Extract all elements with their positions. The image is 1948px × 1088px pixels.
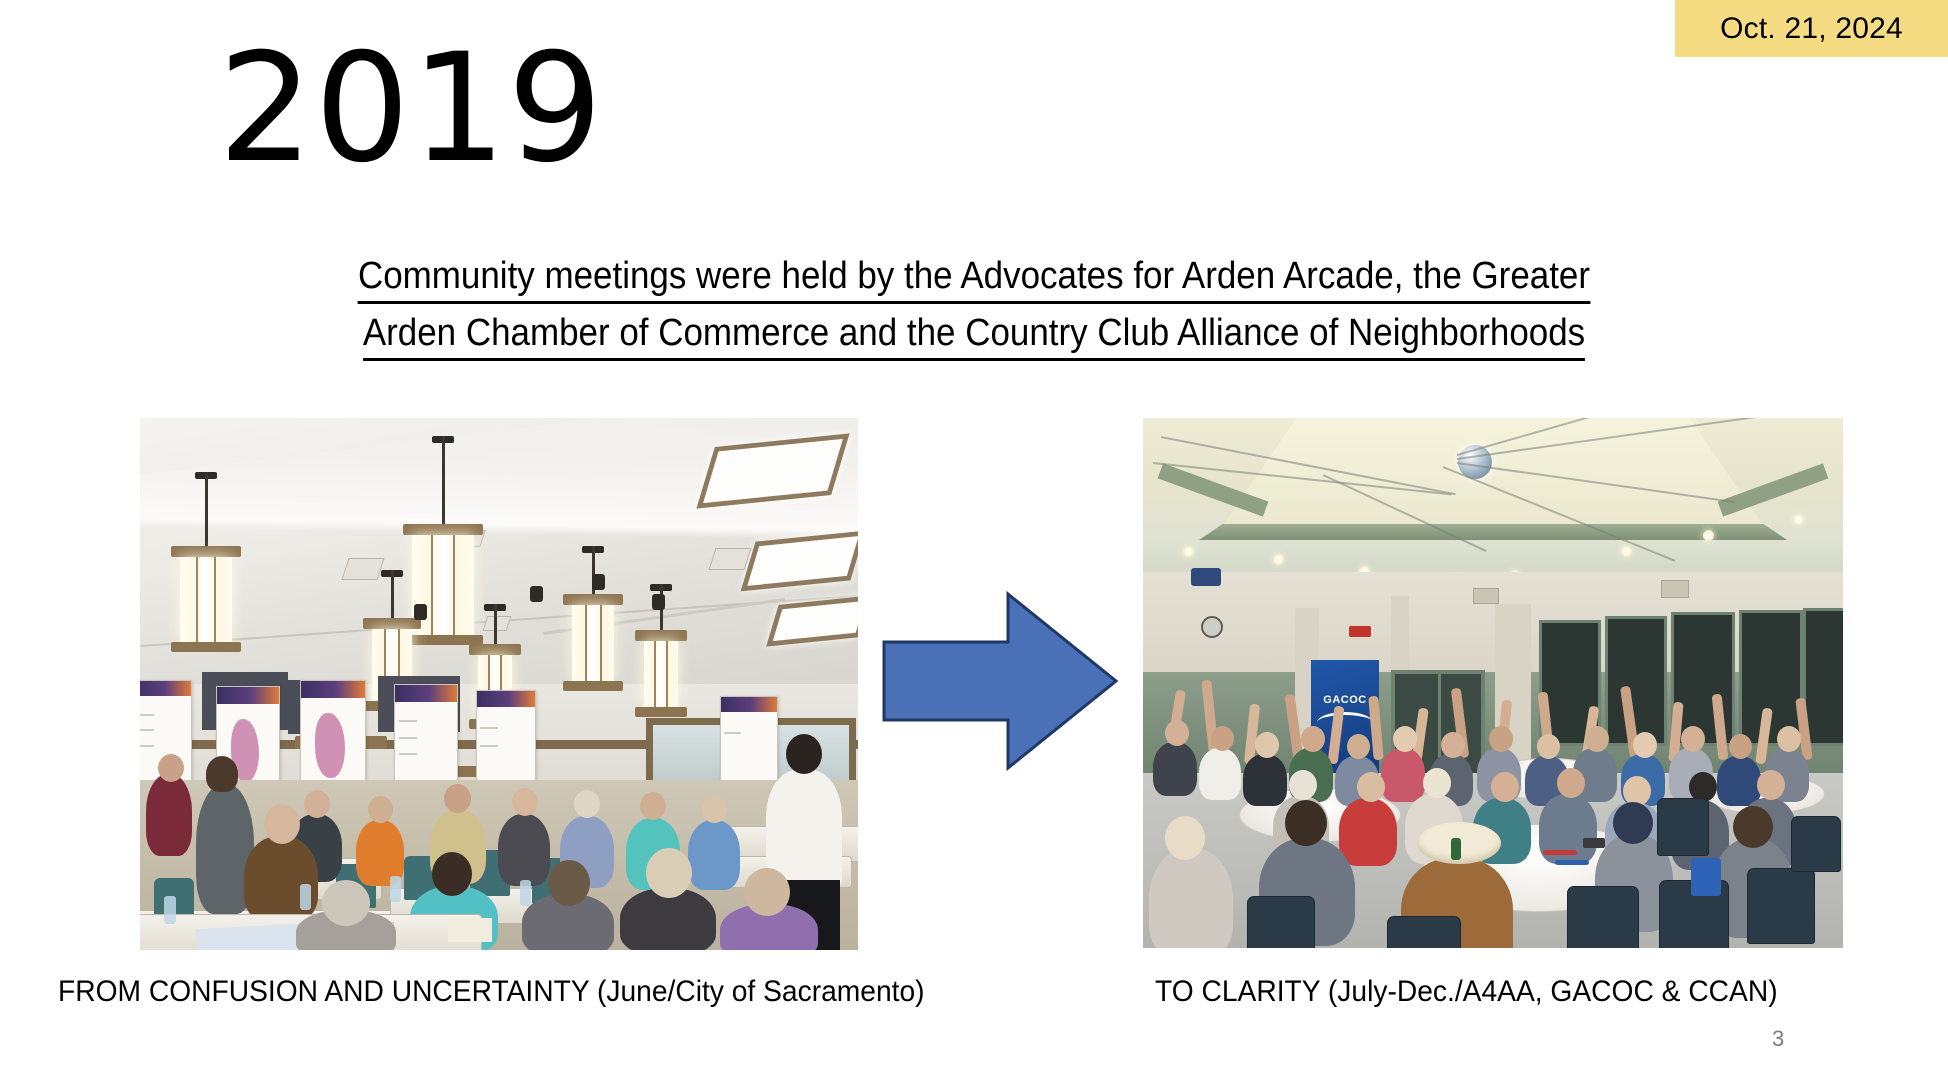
attendee-head bbox=[368, 796, 393, 823]
attendee bbox=[1199, 748, 1241, 800]
marker bbox=[1555, 860, 1589, 865]
attendee-head bbox=[548, 860, 590, 906]
page-number: 3 bbox=[1772, 1026, 1784, 1052]
poster-map bbox=[315, 713, 344, 777]
attendee-head bbox=[1613, 802, 1653, 844]
poster-line bbox=[140, 745, 154, 747]
attendee-head bbox=[1777, 726, 1801, 752]
attendee-head bbox=[1393, 726, 1417, 752]
ceiling-rim bbox=[1199, 524, 1787, 540]
water-bottle bbox=[520, 880, 531, 906]
night-window bbox=[1803, 608, 1843, 746]
attendee bbox=[498, 814, 550, 886]
attendee-head bbox=[1757, 770, 1785, 800]
headline: Community meetings were held by the Advo… bbox=[0, 248, 1948, 362]
banquet-chair bbox=[1747, 868, 1815, 944]
attendee bbox=[1243, 754, 1287, 806]
poster-line bbox=[480, 727, 497, 729]
poster-header bbox=[217, 687, 279, 704]
poster-line bbox=[399, 720, 418, 722]
right-arrow-icon bbox=[880, 588, 1120, 774]
attendee-head bbox=[1301, 726, 1325, 752]
lantern-body bbox=[644, 641, 678, 707]
attendee bbox=[688, 820, 740, 890]
attendee-head bbox=[1285, 800, 1327, 846]
poster-line bbox=[724, 732, 741, 734]
poster-line bbox=[140, 714, 154, 716]
attendee-head bbox=[1729, 734, 1752, 759]
attendee bbox=[146, 774, 192, 856]
attendee bbox=[1381, 748, 1425, 802]
wall-vent bbox=[1473, 588, 1499, 604]
bottle bbox=[1451, 838, 1461, 860]
photo-right-community-vote: GACOC bbox=[1143, 418, 1843, 948]
attendee-head bbox=[1441, 732, 1465, 758]
recessed-light bbox=[1183, 546, 1194, 557]
night-window bbox=[1739, 610, 1803, 746]
recessed-light bbox=[1793, 514, 1804, 525]
attendee-head bbox=[646, 848, 692, 898]
exit-sign bbox=[1349, 626, 1371, 637]
attendee-head bbox=[640, 792, 666, 820]
banquet-chair bbox=[1567, 886, 1639, 948]
lantern-body bbox=[572, 605, 614, 681]
lantern-hat bbox=[635, 630, 687, 641]
track-spotlight bbox=[414, 604, 427, 620]
lantern-hat bbox=[469, 644, 521, 655]
lantern-foot bbox=[635, 707, 687, 717]
attendee bbox=[1339, 798, 1397, 866]
recessed-light bbox=[1273, 554, 1284, 565]
photo-left-community-workshop: Welcome! bbox=[140, 418, 858, 950]
track-spotlight bbox=[652, 594, 665, 610]
year-title: 2019 bbox=[218, 34, 604, 184]
attendee-head bbox=[1585, 726, 1609, 752]
attendee-head bbox=[574, 790, 600, 818]
water-bottle bbox=[390, 876, 401, 902]
attendee-head bbox=[1211, 726, 1234, 751]
attendee-head bbox=[744, 868, 790, 916]
poster-header bbox=[140, 681, 191, 696]
lantern-rod bbox=[205, 472, 208, 546]
attendee-head bbox=[1357, 772, 1385, 802]
date-badge: Oct. 21, 2024 bbox=[1675, 0, 1948, 57]
attendee-head bbox=[1557, 768, 1585, 798]
night-window bbox=[1605, 616, 1667, 746]
poster-line bbox=[480, 745, 497, 747]
lantern-hat bbox=[171, 546, 241, 557]
poster-header bbox=[721, 697, 777, 712]
attendee bbox=[1153, 742, 1197, 796]
lantern-rod bbox=[494, 604, 497, 644]
lantern-rod bbox=[442, 436, 445, 524]
handout bbox=[448, 918, 492, 942]
water-bottle bbox=[164, 896, 176, 924]
headline-line-1-text: Community meetings were held by the Advo… bbox=[358, 255, 1590, 304]
poster-line bbox=[399, 753, 418, 755]
attendee-head bbox=[444, 784, 471, 813]
attendee-head bbox=[158, 754, 184, 782]
recessed-light bbox=[1703, 530, 1714, 541]
presenter-head bbox=[786, 734, 822, 774]
phone bbox=[1583, 838, 1605, 848]
caption-left: FROM CONFUSION AND UNCERTAINTY (June/Cit… bbox=[58, 975, 925, 1009]
water-bottle bbox=[300, 884, 311, 910]
attendee-head bbox=[1633, 732, 1657, 758]
poster-header bbox=[477, 691, 535, 707]
banquet-chair bbox=[1791, 816, 1841, 872]
coffered-ceiling bbox=[1220, 418, 1766, 529]
lantern-hat bbox=[403, 524, 483, 535]
attendee-head bbox=[702, 796, 727, 823]
cooler-bag bbox=[1691, 858, 1721, 896]
attendee-head bbox=[304, 790, 330, 818]
poster-line bbox=[399, 737, 418, 739]
ceiling-vent bbox=[708, 548, 751, 570]
lantern-body bbox=[180, 557, 232, 642]
attendee-head bbox=[1733, 806, 1773, 848]
projector bbox=[1191, 568, 1221, 586]
marker bbox=[1543, 850, 1577, 855]
lantern-hat bbox=[563, 594, 623, 605]
lantern-foot bbox=[563, 681, 623, 691]
attendee-head bbox=[1491, 772, 1519, 802]
lantern-hat bbox=[363, 618, 421, 629]
ceiling-vent bbox=[341, 558, 384, 580]
attendee-head bbox=[1537, 734, 1560, 759]
attendee-head bbox=[1289, 770, 1317, 800]
lantern-foot bbox=[171, 642, 241, 652]
poster-header bbox=[301, 681, 365, 698]
headline-line-2-text: Arden Chamber of Commerce and the Countr… bbox=[363, 312, 1585, 361]
banquet-chair bbox=[1387, 916, 1461, 948]
recessed-light bbox=[1621, 546, 1632, 557]
attendee-head bbox=[1165, 816, 1205, 860]
transition-arrow bbox=[880, 588, 1120, 774]
headline-line-2: Arden Chamber of Commerce and the Countr… bbox=[78, 305, 1870, 362]
track-spotlight bbox=[530, 586, 543, 602]
wall-clock bbox=[1201, 616, 1223, 638]
attendee-head bbox=[264, 804, 300, 844]
attendee-head bbox=[1255, 732, 1279, 758]
banquet-chair bbox=[1657, 798, 1709, 856]
lantern-body bbox=[412, 535, 474, 635]
attendee-head bbox=[1165, 720, 1189, 746]
banquet-chair bbox=[1247, 896, 1315, 948]
attendee-head bbox=[432, 852, 472, 896]
attendee bbox=[1717, 756, 1761, 806]
attendee-foreground bbox=[1149, 848, 1233, 948]
attendee-head bbox=[512, 788, 538, 816]
headline-line-1: Community meetings were held by the Advo… bbox=[78, 248, 1870, 305]
attendee-head bbox=[1423, 768, 1451, 798]
attendee-head bbox=[322, 880, 370, 926]
wall-vent bbox=[1661, 580, 1689, 598]
track-spotlight bbox=[592, 574, 605, 590]
lantern-rod bbox=[391, 570, 394, 618]
poster-header bbox=[395, 685, 457, 702]
caption-right: TO CLARITY (July-Dec./A4AA, GACOC & CCAN… bbox=[1155, 975, 1778, 1009]
date-badge-label: Oct. 21, 2024 bbox=[1720, 12, 1903, 46]
ceiling-vent bbox=[483, 616, 512, 631]
attendee-head bbox=[206, 756, 238, 792]
attendee-head bbox=[1489, 726, 1513, 752]
arrow-shape bbox=[884, 594, 1116, 768]
attendee-head bbox=[1681, 726, 1705, 752]
gacoc-banner-swoosh bbox=[1317, 712, 1373, 733]
poster-line bbox=[140, 729, 154, 731]
attendee-head bbox=[1347, 734, 1370, 759]
